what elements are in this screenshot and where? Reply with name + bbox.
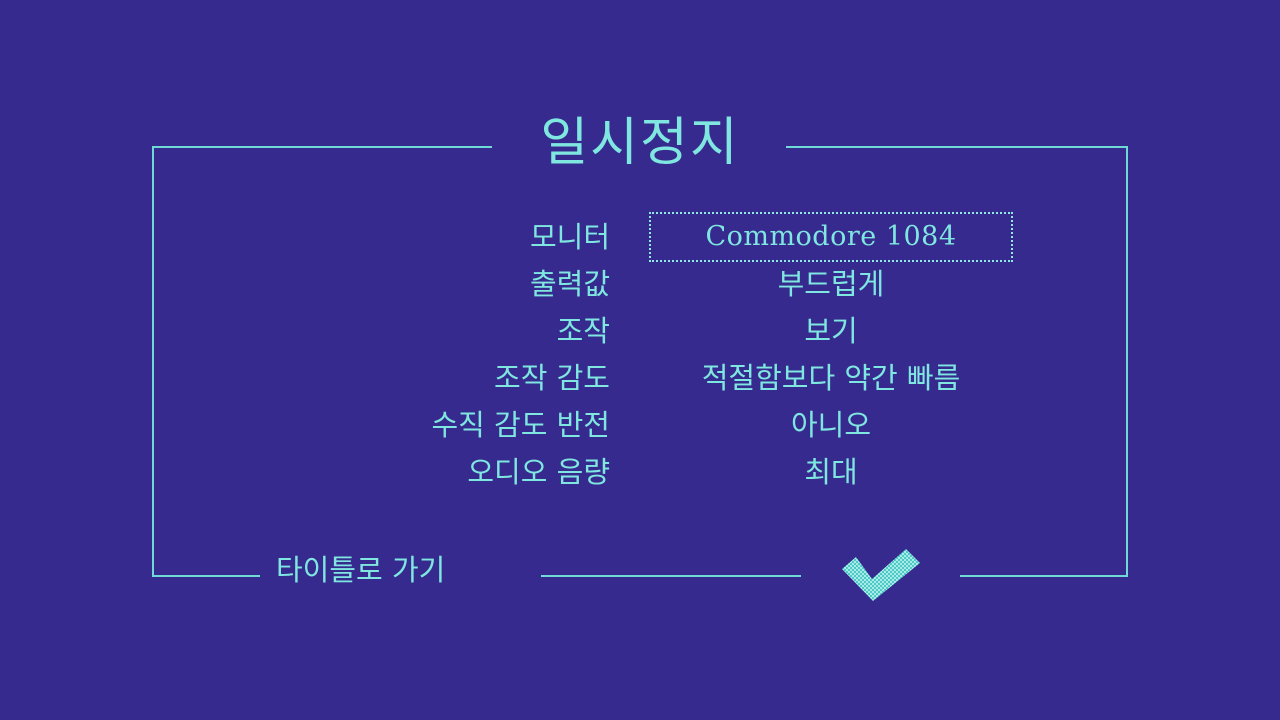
page-title: 일시정지 <box>0 110 1280 176</box>
option-label: 수직 감도 반전 <box>190 404 610 446</box>
option-value[interactable]: 최대 <box>653 451 1009 493</box>
go-to-title-button[interactable]: 타이틀로 가기 <box>276 549 445 591</box>
option-value[interactable]: 보기 <box>653 310 1009 352</box>
option-row-monitor[interactable]: 모니터 Commodore 1084 <box>0 216 1280 263</box>
option-label: 모니터 <box>190 216 610 258</box>
option-value[interactable]: 적절함보다 약간 빠름 <box>653 357 1009 399</box>
option-label: 조작 <box>190 310 610 352</box>
pause-menu-screen: 일시정지 모니터 Commodore 1084 출력값 부드럽게 조작 보기 조… <box>0 0 1280 720</box>
option-label: 출력값 <box>190 263 610 305</box>
option-value[interactable]: 부드럽게 <box>653 263 1009 305</box>
option-row-controls[interactable]: 조작 보기 <box>0 310 1280 357</box>
option-row-invert-vertical[interactable]: 수직 감도 반전 아니오 <box>0 404 1280 451</box>
option-value[interactable]: 아니오 <box>653 404 1009 446</box>
option-row-output[interactable]: 출력값 부드럽게 <box>0 263 1280 310</box>
option-row-audio-volume[interactable]: 오디오 음량 최대 <box>0 451 1280 498</box>
options-list: 모니터 Commodore 1084 출력값 부드럽게 조작 보기 조작 감도 … <box>0 216 1280 498</box>
frame-bottom-left-segment <box>152 575 260 577</box>
option-label: 오디오 음량 <box>190 451 610 493</box>
frame-bottom-right-segment <box>960 575 1128 577</box>
option-value[interactable]: Commodore 1084 <box>653 216 1009 258</box>
option-row-control-sensitivity[interactable]: 조작 감도 적절함보다 약간 빠름 <box>0 357 1280 404</box>
frame-bottom-mid-segment <box>541 575 801 577</box>
option-label: 조작 감도 <box>190 357 610 399</box>
check-icon[interactable] <box>836 547 926 603</box>
